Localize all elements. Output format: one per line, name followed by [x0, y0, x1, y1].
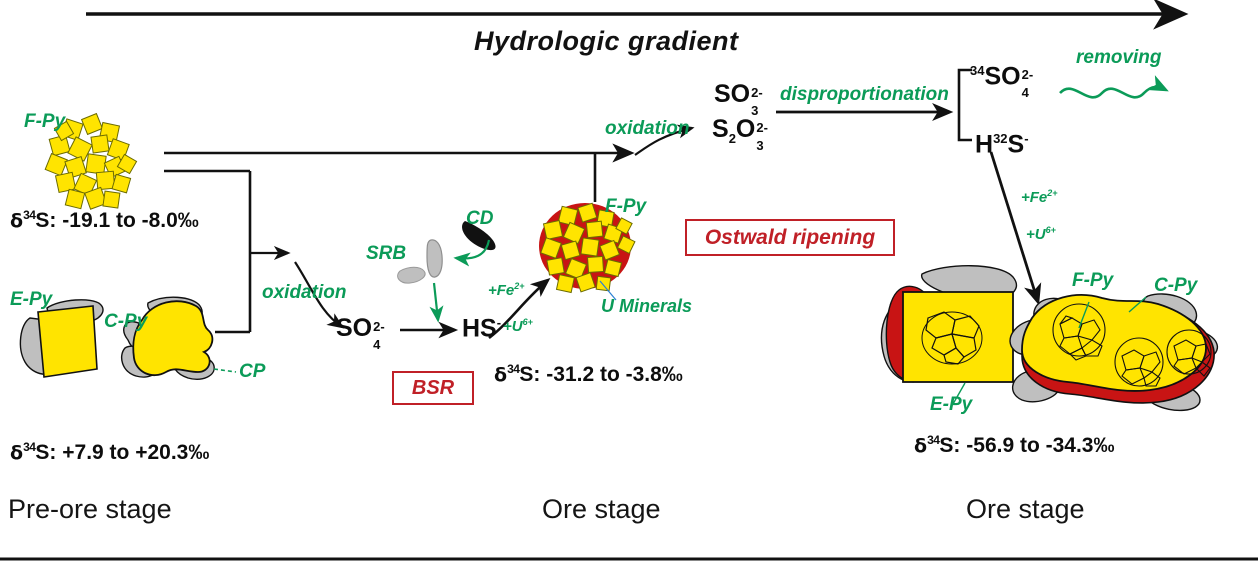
add-u-sup: 6+ [1046, 225, 1056, 235]
add-fe-sup: 2+ [514, 281, 524, 291]
bisulfide-base: HS [462, 314, 497, 342]
heavy-sulfate-subscript: 4 [1022, 86, 1029, 99]
sulfite-base: SO [714, 80, 750, 108]
thiosulfate-o: O [736, 115, 755, 143]
formula-light-sulfide: H32S- [975, 132, 1029, 157]
label-f-py-pre-ore: F-Py [24, 112, 65, 131]
delta-ore-stage-2: δ34S: -56.9 to -34.3‰ [914, 434, 1115, 456]
label-c-py-ore2: C-Py [1154, 276, 1197, 295]
bisulfide-superscript: - [497, 315, 501, 330]
delta-text: S: [35, 209, 62, 232]
ostwald-ripening-box: Ostwald ripening [685, 219, 895, 256]
label-add-u-ore2: +U6+ [1026, 226, 1056, 242]
isotope-mass: 34 [507, 362, 519, 376]
diagram-graphics [0, 0, 1258, 568]
delta-text: S: [35, 441, 62, 464]
heavy-sulfate-mass: 34 [970, 63, 984, 78]
delta-value: -56.9 to -34.3‰ [966, 434, 1114, 457]
srb-cd-group [398, 221, 496, 320]
label-f-py-ore1: F-Py [605, 197, 646, 216]
label-removing: removing [1076, 48, 1162, 67]
page-title: Hydrologic gradient [474, 28, 739, 55]
label-add-u-ore1: +U6+ [503, 318, 533, 334]
label-add-fe-ore1: +Fe2+ [488, 282, 525, 298]
formula-bisulfide: HS- [462, 316, 501, 341]
sulfate-subscript: 4 [373, 338, 380, 351]
add-u-sup: 6+ [523, 317, 533, 327]
formula-sulfate: SO2-4 [336, 316, 372, 341]
label-disproportionation: disproportionation [780, 85, 949, 104]
delta-symbol: δ [10, 210, 23, 232]
delta-ore-stage-1: δ34S: -31.2 to -3.8‰ [494, 363, 683, 385]
light-sulfide-base: S [1008, 130, 1025, 158]
add-u-text: +U [1026, 226, 1046, 243]
delta-value: -19.1 to -8.0‰ [62, 209, 199, 232]
delta-symbol: δ [10, 442, 23, 464]
stage-label-pre-ore: Pre-ore stage [8, 496, 172, 523]
sulfite-superscript: 2- [751, 86, 763, 99]
thiosulfate-superscript: 2- [756, 121, 768, 134]
bsr-box: BSR [392, 371, 474, 405]
formula-thiosulfate: S2O2-3 [712, 117, 755, 145]
ore-stage-2-colloform-grain [1010, 294, 1217, 410]
removing-wave-arrow [1060, 87, 1166, 97]
isotope-mass: 34 [23, 440, 35, 454]
add-fe-text: +Fe [488, 282, 514, 299]
isotope-mass: 34 [23, 208, 35, 222]
add-u-text: +U [503, 318, 523, 335]
label-oxidation-lower: oxidation [262, 283, 346, 302]
ore-stage-framboid-with-u-minerals [539, 203, 635, 300]
add-fe-text: +Fe [1021, 189, 1047, 206]
delta-value: -31.2 to -3.8‰ [546, 363, 683, 386]
label-srb: SRB [366, 244, 406, 263]
pre-ore-to-upper-path-connector [164, 153, 631, 202]
label-add-fe-ore2: +Fe2+ [1021, 189, 1058, 205]
heavy-sulfate-base: SO [984, 62, 1020, 90]
delta-pre-ore-framboid: δ34S: -19.1 to -8.0‰ [10, 209, 199, 231]
heavy-sulfate-superscript: 2- [1022, 68, 1034, 81]
label-oxidation-upper: oxidation [605, 119, 689, 138]
label-f-py-ore2: F-Py [1072, 271, 1113, 290]
thiosulfate-sub1: 2 [729, 131, 736, 146]
delta-pre-ore-grains: δ34S: +7.9 to +20.3‰ [10, 441, 209, 463]
add-fe-sup: 2+ [1047, 188, 1057, 198]
label-cd: CD [466, 209, 493, 228]
light-sulfide-superscript: - [1024, 131, 1028, 146]
label-c-py-pre-ore: C-Py [104, 312, 147, 331]
stage-label-ore-2: Ore stage [966, 496, 1085, 523]
delta-text: S: [939, 434, 966, 457]
sulfate-superscript: 2- [373, 320, 385, 333]
light-sulfide-mass: 32 [993, 131, 1007, 146]
delta-symbol: δ [494, 364, 507, 386]
delta-value: +7.9 to +20.3‰ [62, 441, 209, 464]
delta-text: S: [519, 363, 546, 386]
delta-symbol: δ [914, 435, 927, 457]
formula-heavy-sulfate: 34SO2-4 [970, 64, 1021, 89]
label-cp: CP [239, 362, 265, 381]
label-e-py-pre-ore: E-Py [10, 290, 52, 309]
light-sulfide-h: H [975, 130, 993, 158]
formula-sulfite: SO2-3 [714, 82, 750, 107]
pre-ore-euhedral-pyrite [20, 300, 103, 377]
sulfate-base: SO [336, 314, 372, 342]
thiosulfate-s: S [712, 115, 729, 143]
ore-stage-2-euhedral-grain [882, 266, 1017, 404]
label-e-py-ore2: E-Py [930, 395, 972, 414]
label-u-minerals: U Minerals [601, 297, 692, 315]
pre-ore-colloform-pyrite [122, 297, 236, 379]
thiosulfate-subscript: 3 [756, 139, 763, 152]
isotope-mass: 34 [927, 433, 939, 447]
stage-label-ore-1: Ore stage [542, 496, 661, 523]
figure-canvas: Hydrologic gradient F-Py δ34S: -19.1 to … [0, 0, 1258, 568]
